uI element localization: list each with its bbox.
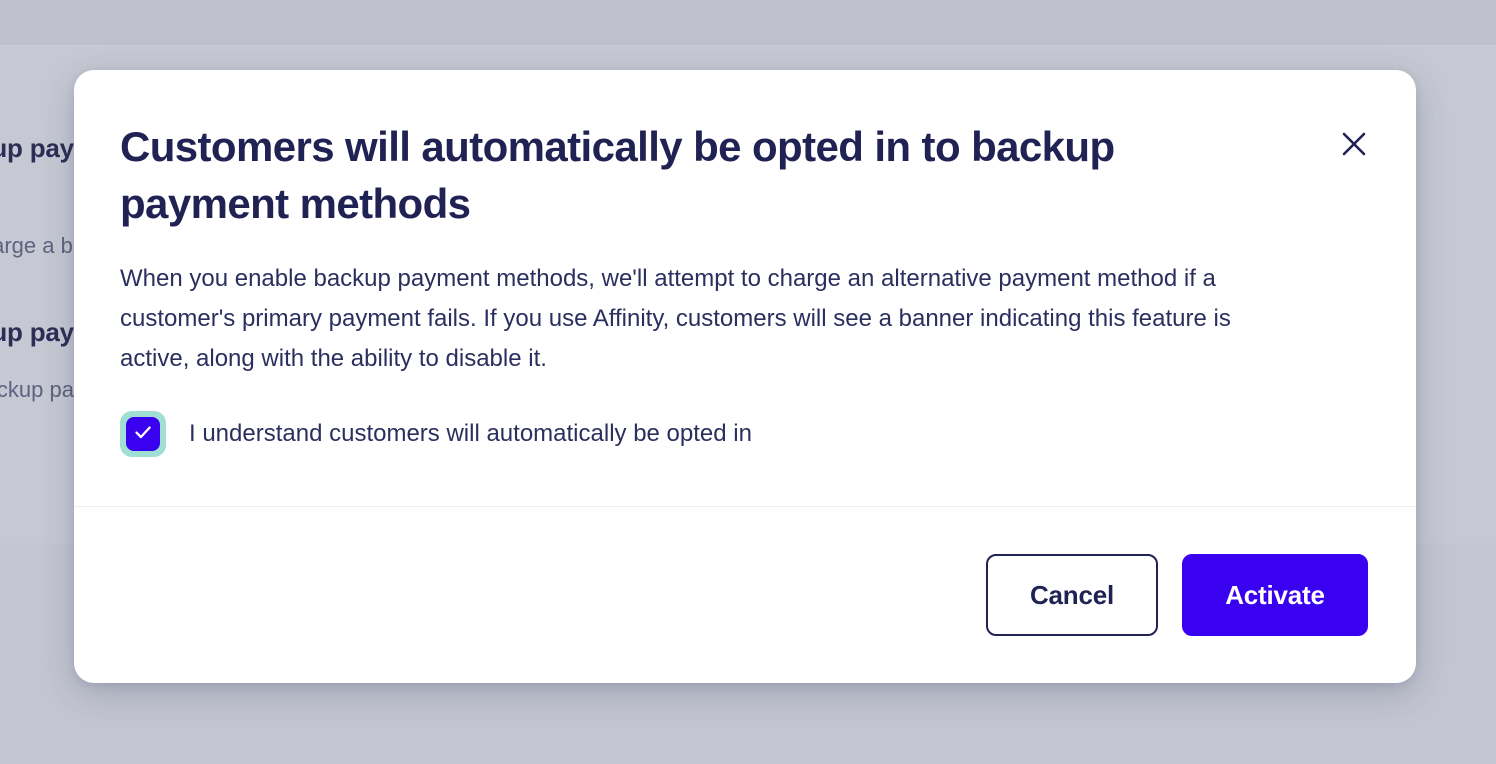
checkbox-fill: [126, 417, 160, 451]
modal-description: When you enable backup payment methods, …: [120, 259, 1295, 379]
modal-title: Customers will automatically be opted in…: [120, 118, 1255, 232]
activate-button[interactable]: Activate: [1182, 554, 1368, 636]
consent-checkbox-label[interactable]: I understand customers will automaticall…: [189, 418, 752, 450]
consent-checkbox[interactable]: [120, 411, 166, 457]
close-icon: [1341, 131, 1367, 157]
close-icon-button[interactable]: [1332, 122, 1376, 166]
modal-footer: Cancel Activate: [74, 506, 1416, 683]
modal-content-area: Customers will automatically be opted in…: [74, 70, 1416, 506]
background-topbar: [0, 0, 1496, 44]
checkmark-icon: [132, 421, 154, 448]
consent-row: I understand customers will automaticall…: [120, 411, 1370, 457]
cancel-button[interactable]: Cancel: [986, 554, 1158, 636]
backup-payment-methods-modal: Customers will automatically be opted in…: [74, 70, 1416, 683]
